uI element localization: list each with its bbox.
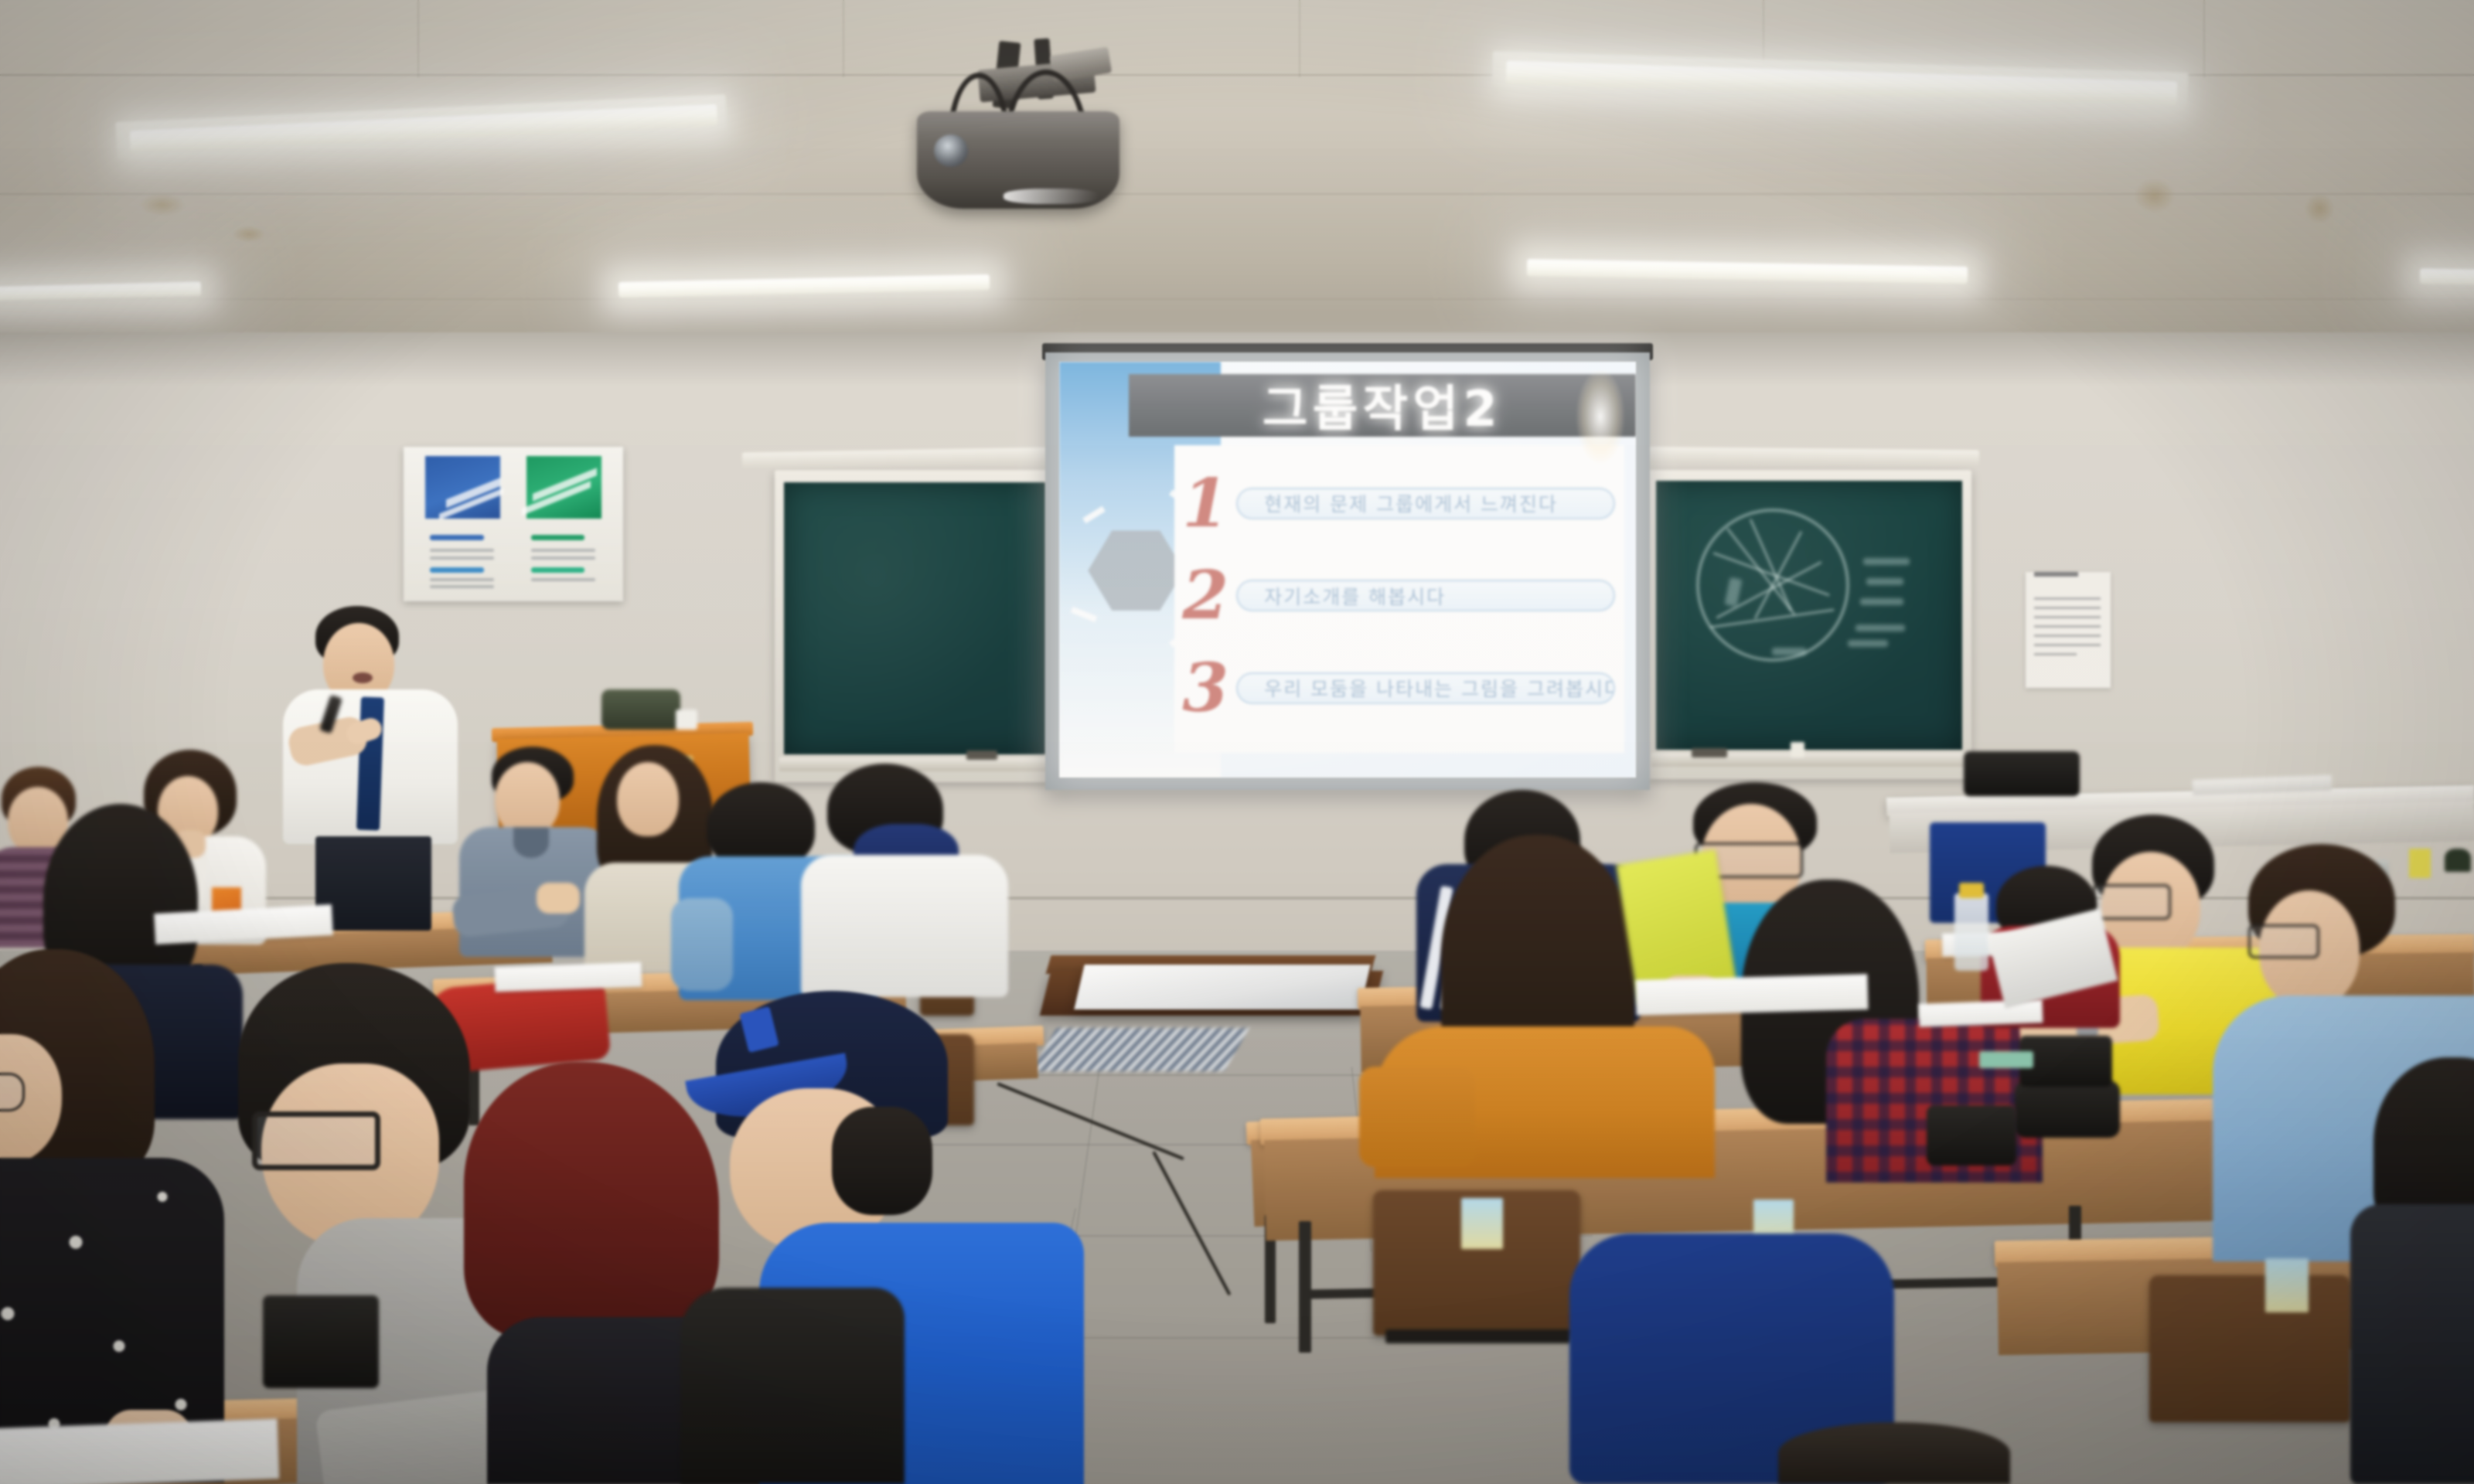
slide-body: 1 현재의 문제 그룹에게서 느껴진다 2 자기소개를 해봅시다 3 <box>1174 445 1624 753</box>
slide-row-2-text: 자기소개를 해봅시다 <box>1264 582 1446 610</box>
black-bag-front <box>680 1288 905 1484</box>
student-mid-white-hood <box>793 764 1010 996</box>
presenter-tie <box>356 697 384 831</box>
pencil-case <box>2015 1081 2120 1138</box>
slide-row-1: 1 현재의 문제 그룹에게서 느껴진다 <box>1174 469 1615 537</box>
slide-canvas: 그룹작업2 1 현재의 문제 그룹에게서 느껴진다 2 자기소개를 해봅시다 <box>1059 362 1636 778</box>
chalk-piece <box>1791 742 1804 757</box>
chalk-note-3 <box>1860 598 1903 605</box>
student-right-orange-arm <box>1359 1067 1475 1167</box>
bag-under-desk <box>263 1295 379 1388</box>
black-bag-on-counter <box>1964 751 2080 796</box>
poster-green <box>526 456 601 592</box>
projection-screen-surface: 그룹작업2 1 현재의 문제 그룹에게서 느껴진다 2 자기소개를 해봅시다 <box>1059 362 1636 778</box>
right-chalkboard-frame <box>1647 470 1971 779</box>
board-eraser-right <box>1692 748 1727 757</box>
student-mid-gray-head <box>495 762 560 836</box>
chalk-note-4 <box>1855 625 1905 631</box>
ceiling-light-6 <box>2420 268 2474 285</box>
right-board-top-rail <box>1639 447 1979 468</box>
slide-row-1-text: 현재의 문제 그룹에게서 느껴진다 <box>1264 489 1558 517</box>
poster-blue <box>425 456 500 592</box>
slide-header-bar: 그룹작업2 <box>1129 374 1636 437</box>
green-sticker <box>1979 1051 2033 1068</box>
chair-2 <box>2149 1275 2350 1422</box>
ceiling <box>0 0 2474 363</box>
water-bottle <box>1954 893 1988 971</box>
bag-on-right-desk <box>2019 1036 2112 1087</box>
student-front-polkadot-glasses <box>0 1073 25 1111</box>
slide-row-1-pill: 현재의 문제 그룹에게서 느껴진다 <box>1236 488 1615 519</box>
slide-row-3-number: 3 <box>1174 649 1236 727</box>
slide-row-3-text: 우리 모둠을 나타내는 그림을 그려봅시다 <box>1264 674 1615 702</box>
chair-1-frame <box>1385 1329 1571 1343</box>
desk-sticker-1 <box>1461 1198 1503 1249</box>
student-mid-cream-head <box>617 762 679 836</box>
bottle-cap <box>1959 883 1984 898</box>
poster-green-rule <box>531 535 585 540</box>
left-chalkboard-frame <box>775 470 1053 782</box>
slide-row-2-pill: 자기소개를 해봅시다 <box>1236 580 1615 611</box>
poster-blue-image <box>425 456 500 519</box>
projector-glare <box>1576 370 1624 463</box>
student-front-gray-glasses <box>252 1111 380 1170</box>
slide-row-1-number: 1 <box>1174 465 1236 543</box>
ceiling-projector <box>912 37 1136 215</box>
wall-notice-sheet <box>2026 572 2111 688</box>
projector-lens <box>934 134 968 167</box>
board-eraser-left <box>966 751 997 760</box>
student-right-edge-top <box>2350 1204 2474 1484</box>
leaning-whiteboard <box>1074 965 1370 1009</box>
slide-row-2: 2 자기소개를 해봅시다 <box>1174 562 1615 630</box>
paper-front-left <box>0 1418 279 1484</box>
classroom-photo: 그룹작업2 1 현재의 문제 그룹에게서 느껴진다 2 자기소개를 해봅시다 <box>0 0 2474 1484</box>
student-right-edge <box>2358 1057 2474 1484</box>
student-mid-gray-hand <box>537 883 580 914</box>
slide-row-3: 3 우리 모둠을 나타내는 그림을 그려봅시다 <box>1174 654 1615 722</box>
projector-highlight <box>1004 189 1099 204</box>
student-mid-gray-collar <box>513 827 549 858</box>
paper-right-desk <box>1635 974 1868 1016</box>
person-partial-bottom <box>1778 1422 2010 1484</box>
desk-sticker-3 <box>2265 1258 2309 1312</box>
projection-screen[interactable]: 그룹작업2 1 현재의 문제 그룹에게서 느껴진다 2 자기소개를 해봅시다 <box>1045 352 1650 790</box>
poster-green-image <box>526 456 601 519</box>
slide-row-2-number: 2 <box>1174 556 1236 635</box>
olive-bag-on-podium <box>601 689 680 730</box>
poster-green-rule-2 <box>531 567 585 573</box>
presenter <box>272 606 473 931</box>
camera-on-desk <box>1927 1105 2016 1166</box>
slide-row-3-pill: 우리 모둠을 나타내는 그림을 그려봅시다 <box>1236 672 1615 704</box>
poster-blue-rule <box>430 535 484 540</box>
slide-title: 그룹작업2 <box>1263 369 1502 441</box>
poster-group <box>404 447 623 601</box>
chalk-note-7 <box>1772 648 1806 655</box>
presenter-mouth <box>353 672 373 683</box>
paper-center-desk <box>494 962 642 992</box>
white-cup-on-podium <box>676 710 697 730</box>
desk-right-front-leg-1 <box>1299 1221 1311 1353</box>
right-chalkboard <box>1656 481 1962 750</box>
chalk-note-1 <box>1863 558 1910 565</box>
chalk-note-2 <box>1866 578 1903 585</box>
left-chalkboard <box>784 482 1045 754</box>
presenter-trousers <box>315 836 431 931</box>
poster-blue-rule-2 <box>430 567 484 573</box>
chalk-note-5 <box>1848 640 1888 647</box>
student-mid-white-hood-top <box>801 855 1008 997</box>
student-front-bluecap-hair <box>832 1107 932 1215</box>
student-mid-blue-sleeve <box>671 898 733 991</box>
student-right-lightblue-glasses <box>2248 924 2319 958</box>
